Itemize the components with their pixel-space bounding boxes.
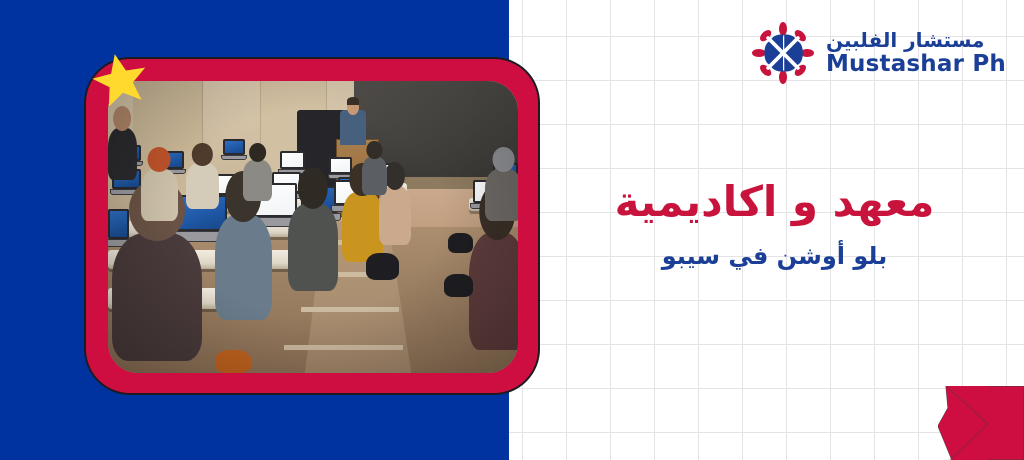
promo-banner: مستشار الفلبين Mustashar Ph معهد و اكادي… — [0, 0, 1024, 460]
brand-text: مستشار الفلبين Mustashar Ph — [826, 30, 1006, 76]
photo-student — [141, 169, 178, 222]
photo-instructor-hair — [347, 97, 359, 105]
photo-backpack — [366, 253, 399, 279]
brand-name-arabic: مستشار الفلبين — [826, 30, 985, 50]
headline-block: معهد و اكاديمية بلو أوشن في سيبو — [545, 178, 1004, 270]
photo-student — [215, 215, 272, 320]
geometric-star-flower-icon — [752, 22, 814, 84]
photo-student — [485, 169, 518, 222]
photo-student — [469, 233, 518, 350]
photo-instructor — [340, 110, 367, 145]
photo-student — [342, 192, 383, 262]
chevron-decoration-icon — [938, 386, 1024, 460]
photo-student — [108, 128, 137, 181]
photo-student — [288, 204, 337, 292]
page-title: معهد و اكاديمية — [545, 178, 1004, 226]
photo-student — [243, 160, 272, 201]
photo-laptop — [329, 157, 352, 179]
photo-frame — [108, 81, 518, 373]
star-icon — [92, 52, 148, 106]
photo-student — [186, 163, 219, 210]
photo-backpack — [448, 233, 473, 253]
photo-student — [379, 186, 412, 244]
brand-logo: مستشار الفلبين Mustashar Ph — [752, 22, 1006, 84]
brand-name-latin: Mustashar Ph — [826, 53, 1006, 76]
photo-laptop — [223, 139, 246, 159]
classroom-photo — [108, 81, 518, 373]
photo-backpack — [215, 350, 252, 373]
photo-backpack — [444, 274, 473, 297]
photo-step — [301, 307, 399, 312]
page-subtitle: بلو أوشن في سيبو — [545, 242, 1004, 270]
photo-card — [84, 57, 540, 395]
photo-student — [112, 233, 202, 361]
photo-student — [362, 157, 387, 195]
photo-step — [284, 345, 403, 350]
